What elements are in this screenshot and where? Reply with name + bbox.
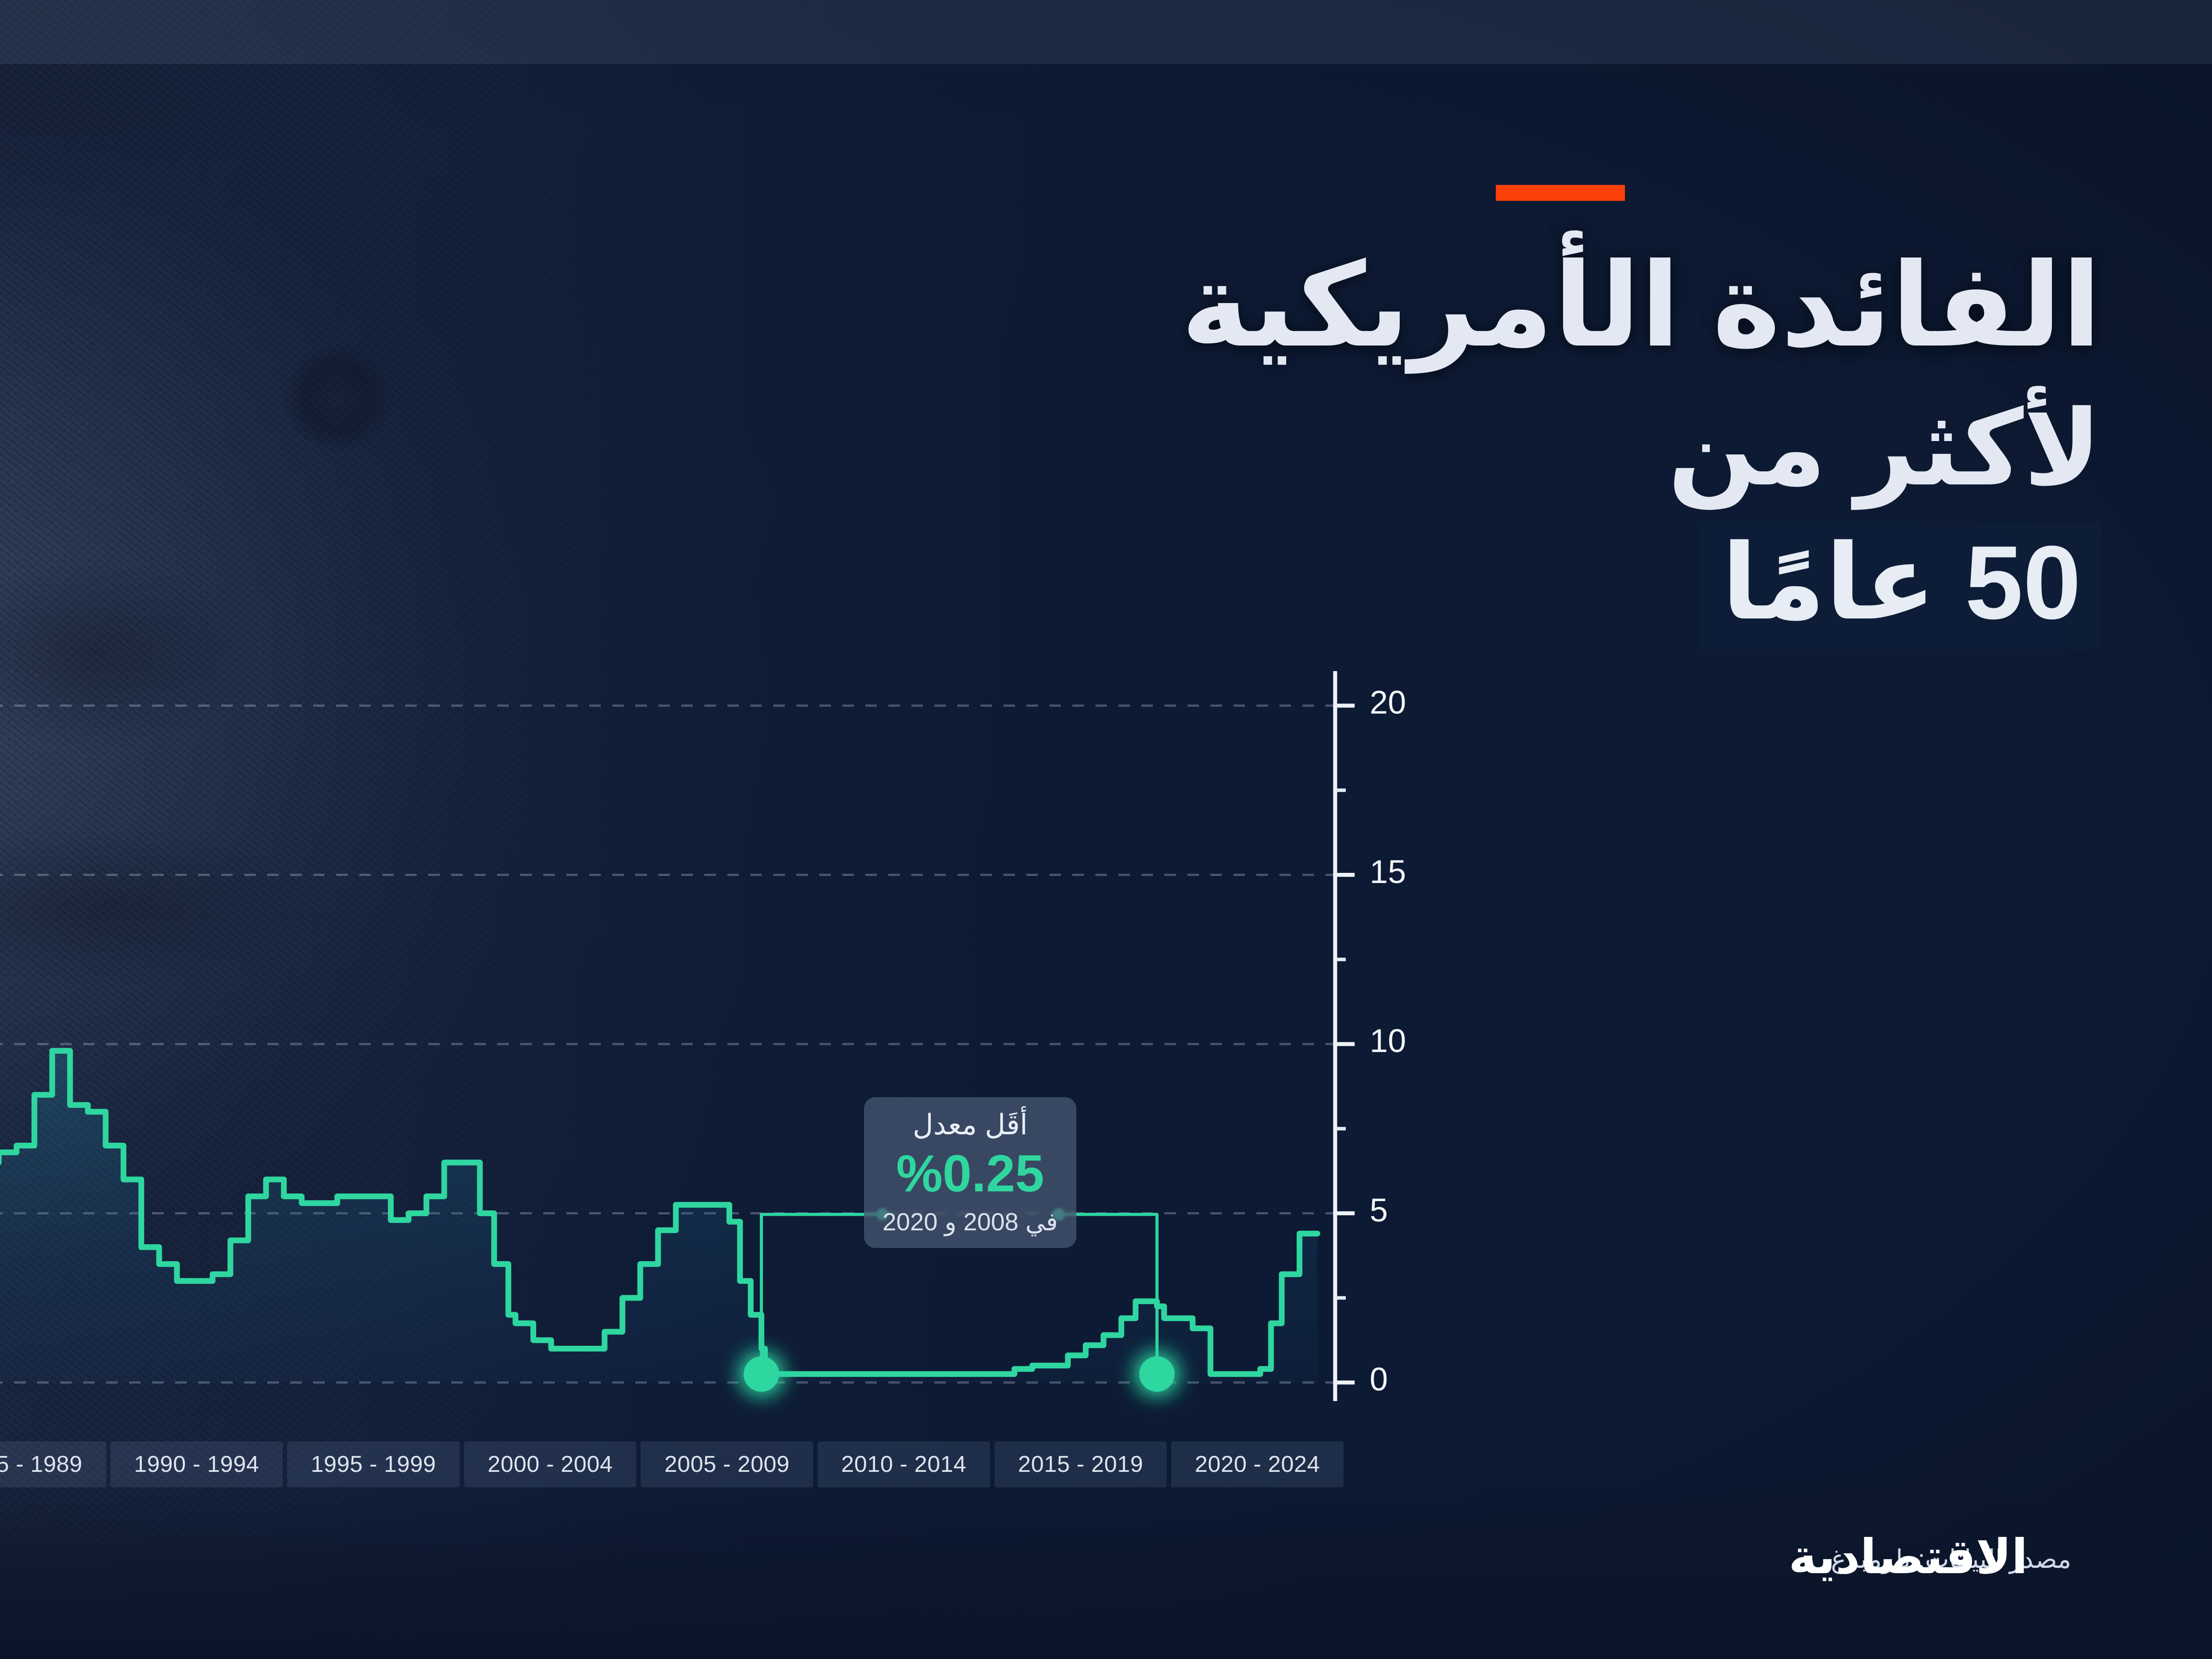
low-rate-label: أقَل معدل (879, 1107, 1061, 1142)
x-axis-period-pill: 2000 - 2004 (464, 1441, 637, 1487)
x-axis-period-pill: 1985 - 1989 (0, 1441, 106, 1487)
x-axis-categories: 1971 - 19741975 - 19791980 - 19841985 - … (0, 1441, 1344, 1487)
publisher-logo: الاقتصادية (1789, 1529, 2028, 1585)
low-rate-value: %0.25 (879, 1142, 1061, 1206)
page-subtitle-line1: لأكثر من (1084, 390, 2101, 507)
x-axis-period-pill: 1995 - 1999 (287, 1441, 460, 1487)
infographic-canvas: الفائدة الأمريكية لأكثر من 50 عامًا (0, 0, 2212, 1659)
low-rate-tooltip: أقَل معدل %0.25 في 2008 و 2020 (864, 1097, 1076, 1248)
x-axis-period-pill: 2010 - 2014 (818, 1441, 990, 1487)
x-axis-period-pill: 2005 - 2009 (641, 1441, 813, 1487)
page-subtitle-line2: 50 عامًا (1701, 522, 2101, 649)
x-axis-period-pill: 1990 - 1994 (111, 1441, 283, 1487)
accent-bar (1496, 185, 1625, 201)
x-axis-period-pill: 2020 - 2024 (1171, 1441, 1344, 1487)
low-rate-note: في 2008 و 2020 (879, 1206, 1061, 1238)
page-title: الفائدة الأمريكية (1084, 248, 2101, 364)
headline-block: الفائدة الأمريكية لأكثر من 50 عامًا (1084, 248, 2101, 649)
top-band (0, 0, 2212, 64)
x-axis-period-pill: 2015 - 2019 (995, 1441, 1167, 1487)
